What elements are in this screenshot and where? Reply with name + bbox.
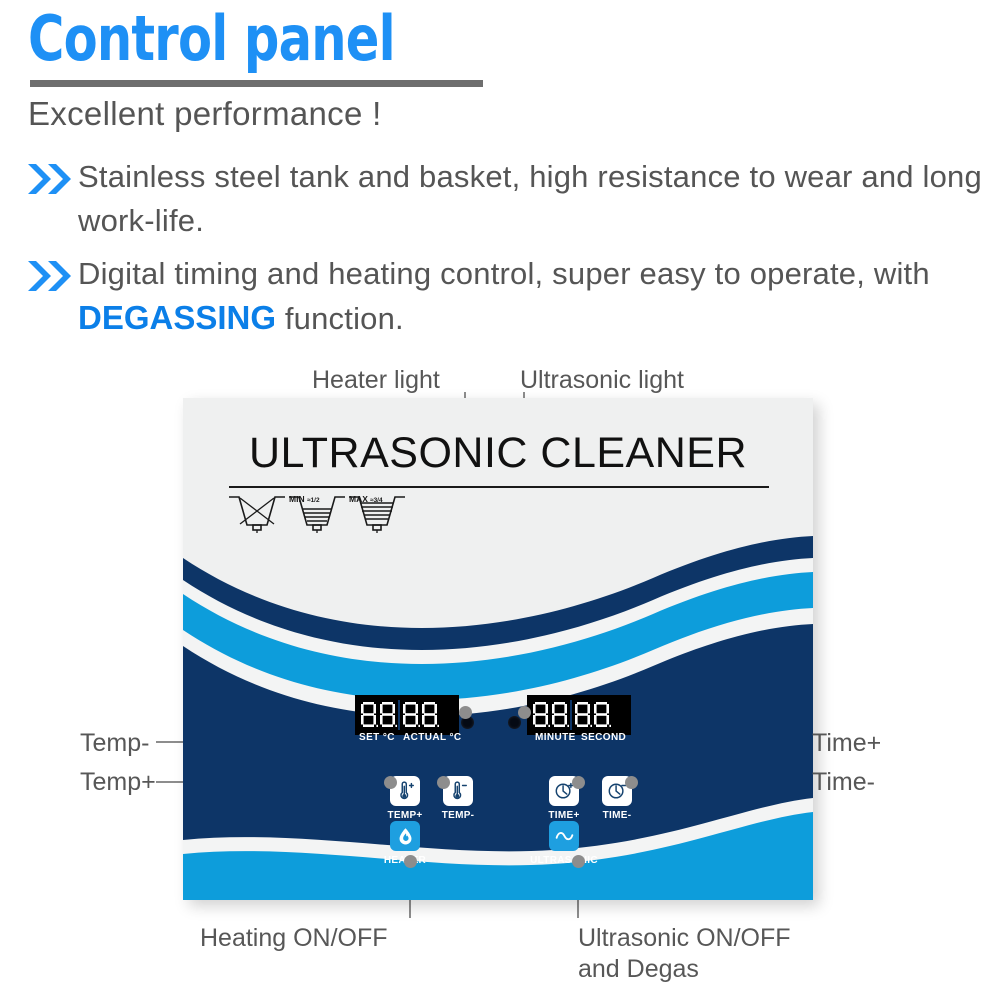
tank-empty-icon: [229, 497, 285, 533]
double-chevron-right-icon: [26, 161, 72, 197]
display-label-second: SECOND: [581, 732, 626, 743]
feature-bullet-1-text: Stainless steel tank and basket, high re…: [72, 155, 986, 243]
seven-segment-digit: [573, 701, 592, 729]
display-label-actual: ACTUAL °C: [403, 732, 462, 743]
temperature-display: [355, 695, 459, 735]
feature-bullet-2: Digital timing and heating control, supe…: [26, 252, 986, 341]
callout-temp-plus: Temp+: [80, 767, 156, 798]
leader-dot-temp-plus: [384, 776, 397, 789]
device-brand-title: ULTRASONIC CLEANER: [183, 428, 813, 478]
display-divider: [398, 700, 400, 730]
seven-segment-digit: [401, 701, 420, 729]
feature-bullet-2-text: Digital timing and heating control, supe…: [72, 252, 986, 341]
leader-dot-time-minus: [625, 776, 638, 789]
subtitle: Excellent performance !: [28, 94, 382, 134]
sound-wave-icon: [549, 821, 579, 851]
callout-ultrasonic-onoff: Ultrasonic ON/OFF and Degas: [578, 923, 828, 985]
feature-bullet-2-text-before: Digital timing and heating control, supe…: [78, 256, 930, 291]
time-plus-button-label: TIME+: [548, 810, 579, 821]
callout-temp-minus: Temp-: [80, 728, 149, 759]
display-label-minute: MINUTE: [535, 732, 576, 743]
feature-bullet-1-text-main: Stainless steel tank and basket, high re…: [78, 159, 982, 238]
temp-plus-button-label: TEMP+: [387, 810, 422, 821]
control-panel-device: ULTRASONIC CLEANER: [183, 398, 813, 900]
title-underline-rule: [30, 80, 483, 87]
callout-heater-light: Heater light: [312, 365, 440, 396]
ultrasonic-button-label: ULTRASONIC: [530, 855, 598, 866]
leader-dot-heater-light: [459, 706, 472, 719]
time-plus-button[interactable]: TIME+: [534, 776, 594, 821]
page-title: Control panel: [28, 8, 395, 70]
time-minus-button-label: TIME-: [603, 810, 632, 821]
callout-time-minus: Time-: [812, 767, 875, 798]
double-chevron-right-icon: [26, 258, 72, 294]
tank-level-icon-group: MIN ≈1/2 MAX ≈3/4: [227, 491, 407, 535]
time-minus-button[interactable]: TIME-: [587, 776, 647, 821]
display-divider: [570, 700, 572, 730]
device-brand-underline: [229, 486, 769, 488]
leader-dot-heater: [404, 855, 417, 868]
ultrasonic-button[interactable]: ULTRASONIC: [534, 821, 594, 866]
tank-max-label: MAX: [349, 494, 368, 504]
ultrasonic-indicator-light: [508, 716, 521, 729]
feature-bullet-2-highlight: DEGASSING: [78, 299, 276, 336]
tank-min-label: MIN: [289, 494, 305, 504]
callout-ultrasonic-light: Ultrasonic light: [520, 365, 684, 396]
water-drop-flame-icon: [390, 821, 420, 851]
leader-dot-temp-minus: [437, 776, 450, 789]
tank-min-sublabel: ≈1/2: [307, 497, 320, 504]
display-label-set: SET °C: [359, 732, 395, 743]
seven-segment-digit: [359, 701, 378, 729]
callout-time-plus: Time+: [812, 728, 881, 759]
leader-dot-ultrasonic: [572, 855, 585, 868]
seven-segment-digit: [378, 701, 397, 729]
feature-bullet-2-text-after: function.: [276, 301, 404, 336]
callout-heating-onoff: Heating ON/OFF: [200, 923, 388, 954]
leader-dot-ultrasonic-light: [518, 706, 531, 719]
seven-segment-digit: [550, 701, 569, 729]
seven-segment-digit: [592, 701, 611, 729]
temp-minus-button-label: TEMP-: [442, 810, 475, 821]
feature-bullet-1: Stainless steel tank and basket, high re…: [26, 155, 986, 243]
timer-display: [527, 695, 631, 735]
leader-dot-time-plus: [572, 776, 585, 789]
seven-segment-digit: [420, 701, 439, 729]
seven-segment-digit: [531, 701, 550, 729]
tank-max-sublabel: ≈3/4: [370, 497, 383, 504]
